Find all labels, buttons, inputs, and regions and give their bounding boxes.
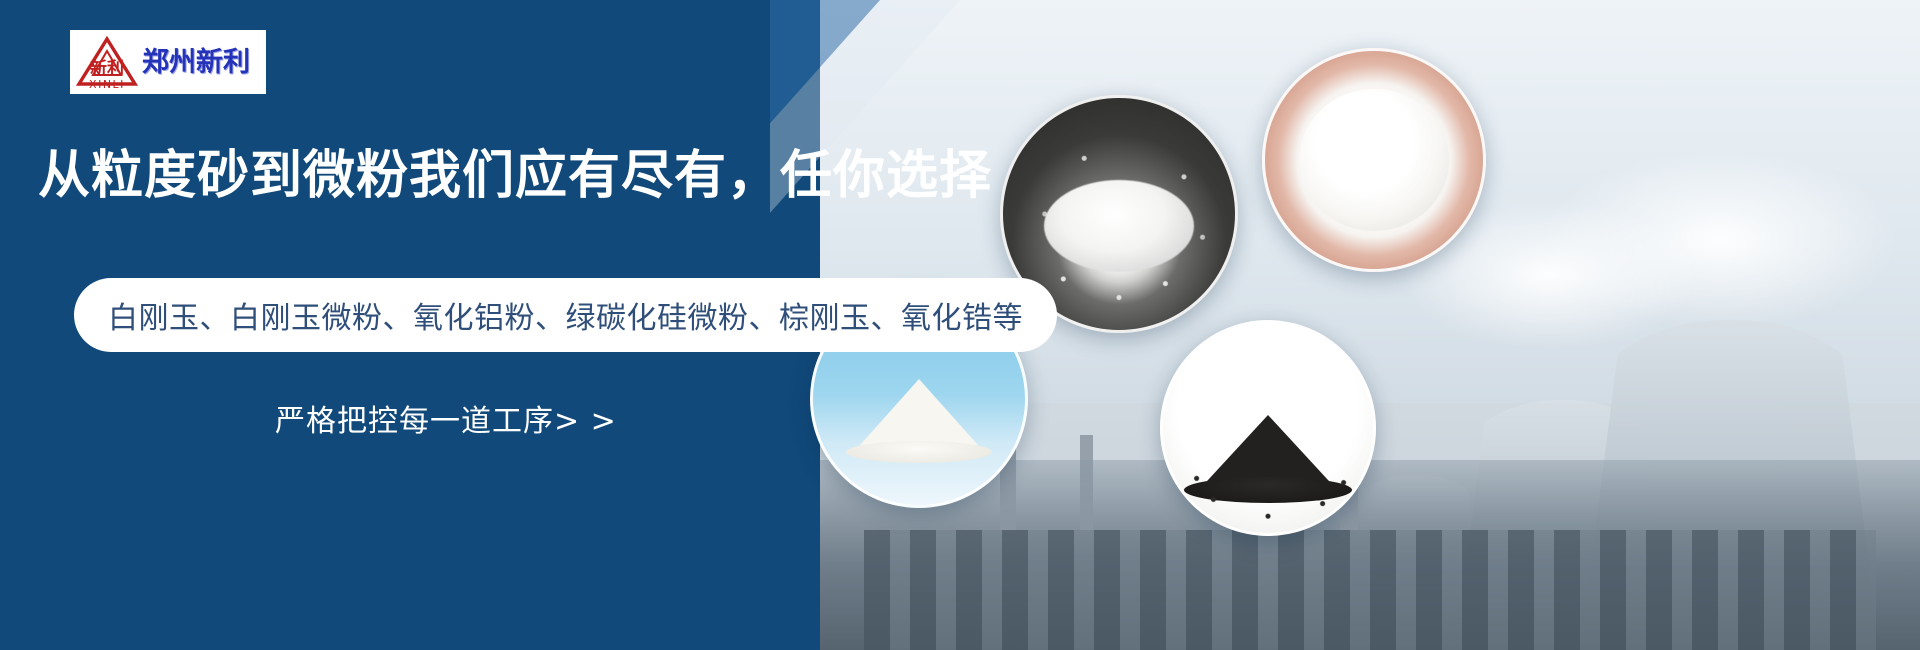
svg-text:XINLI: XINLI <box>89 78 125 90</box>
company-logo[interactable]: 新利 XINLI 郑州新利 <box>70 30 266 94</box>
cta-link[interactable]: 严格把控每一道工序> > <box>275 396 617 440</box>
page-title: 从粒度砂到微粉我们应有尽有，任你选择 <box>38 148 958 204</box>
svg-text:新利: 新利 <box>90 58 124 79</box>
powder-cone-base <box>846 441 992 463</box>
product-photo-black-grit-cone <box>1160 320 1376 536</box>
promo-banner: 新利 XINLI 郑州新利 从粒度砂到微粉我们应有尽有，任你选择 白刚玉、白刚玉… <box>0 0 1920 650</box>
product-list-pill: 白刚玉、白刚玉微粉、氧化铝粉、绿碳化硅微粉、棕刚玉、氧化锆等 <box>74 278 1057 352</box>
xinli-triangle-icon: 新利 XINLI <box>76 34 138 90</box>
black-grit-specks <box>1163 323 1373 533</box>
logo-wordmark: 郑州新利 <box>142 49 250 76</box>
powder-pile-shape <box>1299 89 1449 231</box>
product-photo-white-powder-bowl <box>1262 48 1486 272</box>
smokestack-icon <box>1080 435 1093 530</box>
product-list-text: 白刚玉、白刚玉微粉、氧化铝粉、绿碳化硅微粉、棕刚玉、氧化锆等 <box>108 293 1023 337</box>
